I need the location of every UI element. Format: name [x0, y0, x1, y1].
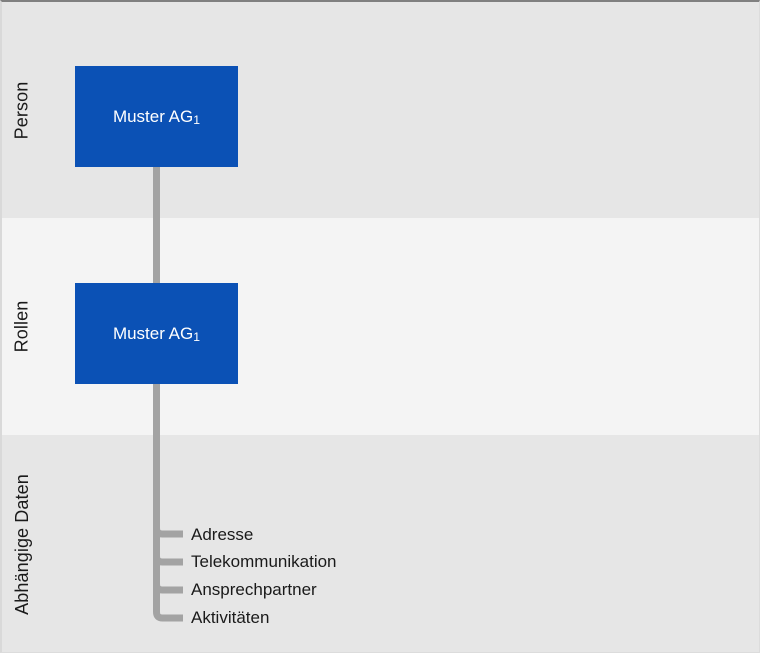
leaf-label-adresse[interactable]: Adresse: [191, 526, 253, 543]
leaf-label-telekommunikation[interactable]: Telekommunikation: [191, 553, 337, 570]
node-person[interactable]: Muster AG1: [75, 66, 238, 167]
node-person-label-text: Muster AG: [113, 107, 193, 126]
node-rolle-label-text: Muster AG: [113, 324, 193, 343]
leaf-label-ansprechpartner[interactable]: Ansprechpartner: [191, 581, 317, 598]
branch-connector-adresse: [157, 522, 184, 534]
leaf-label-aktivitaeten[interactable]: Aktivitäten: [191, 609, 269, 626]
node-person-label: Muster AG1: [113, 107, 200, 127]
branch-connector-aktivitaeten: [157, 606, 184, 618]
node-rolle-label: Muster AG1: [113, 324, 200, 344]
node-rolle-label-subscript: 1: [193, 330, 200, 344]
node-person-label-subscript: 1: [193, 113, 200, 127]
node-rolle[interactable]: Muster AG1: [75, 283, 238, 384]
branch-connector-telekommunikation: [157, 550, 184, 562]
swimlane-diagram: Person Rollen Abhängige Daten Muster AG1…: [0, 0, 760, 653]
branch-connector-ansprechpartner: [157, 578, 184, 590]
